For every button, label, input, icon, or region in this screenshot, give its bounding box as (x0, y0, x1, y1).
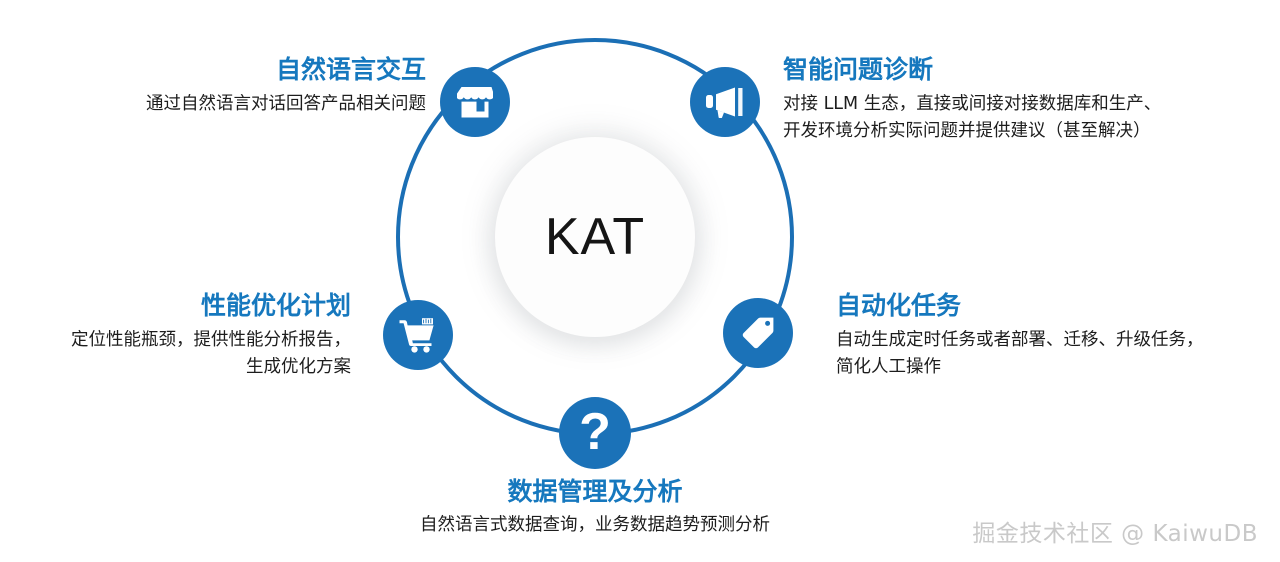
node-automation[interactable] (723, 298, 793, 368)
node-data-management[interactable]: ? (559, 397, 631, 469)
desc-diagnosis-line-1: 对接 LLM 生态，直接或间接对接数据库和生产、 (783, 91, 1223, 118)
block-natural-language: 自然语言交互 通过自然语言对话回答产品相关问题 (80, 56, 426, 118)
megaphone-icon (706, 86, 744, 118)
shopping-cart-icon (399, 317, 437, 353)
block-performance: 性能优化计划 定位性能瓶颈，提供性能分析报告， 生成优化方案 (8, 292, 351, 381)
title-diagnosis: 智能问题诊断 (783, 56, 1223, 85)
desc-data-management-line-1: 自然语言式数据查询，业务数据趋势预测分析 (335, 512, 855, 539)
storefront-icon (457, 85, 493, 119)
desc-automation-line-2: 简化人工操作 (836, 354, 1256, 381)
title-data-management: 数据管理及分析 (335, 478, 855, 507)
title-natural-language: 自然语言交互 (80, 56, 426, 85)
block-data-management: 数据管理及分析 自然语言式数据查询，业务数据趋势预测分析 (335, 478, 855, 539)
title-performance: 性能优化计划 (8, 292, 351, 321)
block-automation: 自动化任务 自动生成定时任务或者部署、迁移、升级任务， 简化人工操作 (836, 292, 1256, 381)
node-diagnosis[interactable] (690, 67, 760, 137)
desc-automation-line-1: 自动生成定时任务或者部署、迁移、升级任务， (836, 327, 1256, 354)
infographic-canvas: KAT (0, 0, 1280, 562)
title-automation: 自动化任务 (836, 292, 1256, 321)
center-hub-label: KAT (545, 207, 645, 267)
desc-diagnosis-line-2: 开发环境分析实际问题并提供建议（甚至解决） (783, 118, 1223, 145)
question-mark-icon: ? (579, 406, 611, 458)
node-natural-language[interactable] (440, 67, 510, 137)
center-hub: KAT (495, 137, 695, 337)
block-diagnosis: 智能问题诊断 对接 LLM 生态，直接或间接对接数据库和生产、 开发环境分析实际… (783, 56, 1223, 145)
desc-performance-line-1: 定位性能瓶颈，提供性能分析报告， (8, 327, 351, 354)
desc-performance-line-2: 生成优化方案 (8, 354, 351, 381)
price-tag-icon (740, 315, 776, 351)
desc-natural-language-line-1: 通过自然语言对话回答产品相关问题 (80, 91, 426, 118)
watermark: 掘金技术社区 @ KaiwuDB (972, 514, 1258, 548)
node-performance[interactable] (383, 300, 453, 370)
